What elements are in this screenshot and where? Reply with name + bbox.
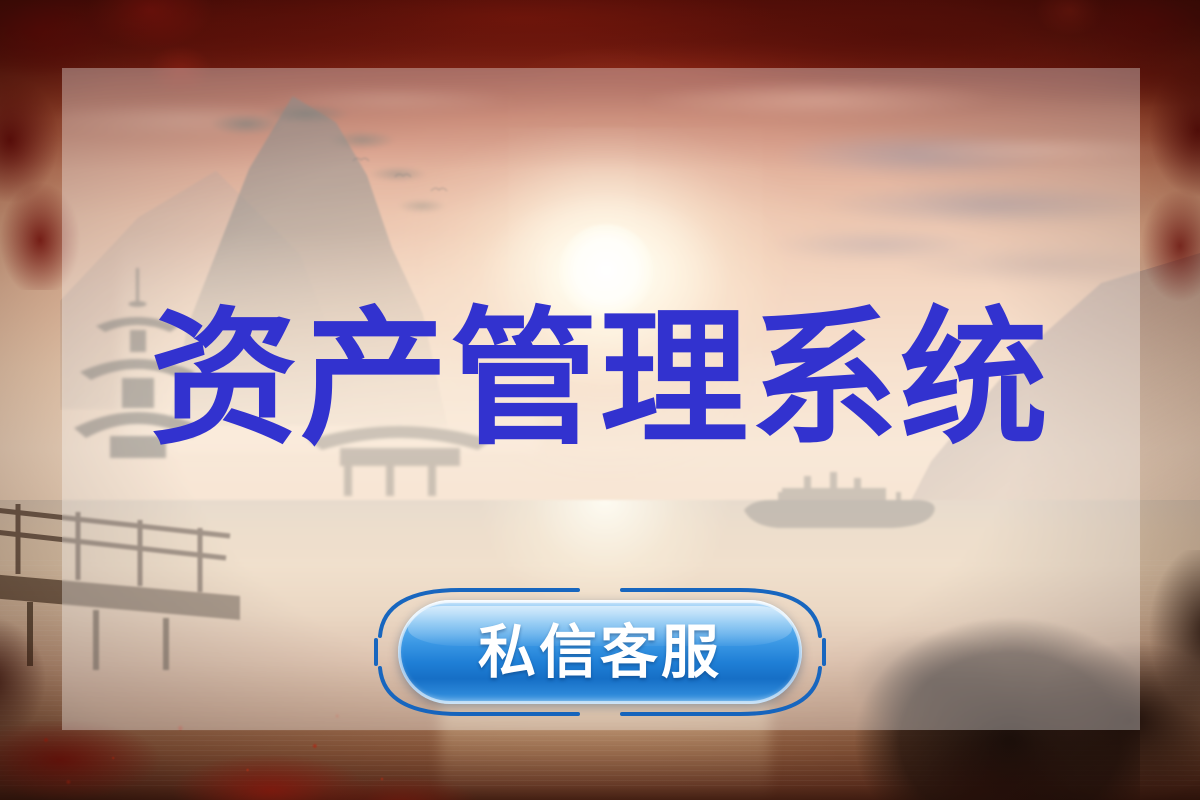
contact-support-button[interactable]: 私信客服 [398, 600, 802, 704]
page-title: 资产管理系统 [0, 305, 1200, 453]
contact-support-label: 私信客服 [478, 623, 722, 681]
poster-canvas: 资产管理系统 私信客服 [0, 0, 1200, 800]
cta-container: 私信客服 [374, 586, 826, 718]
